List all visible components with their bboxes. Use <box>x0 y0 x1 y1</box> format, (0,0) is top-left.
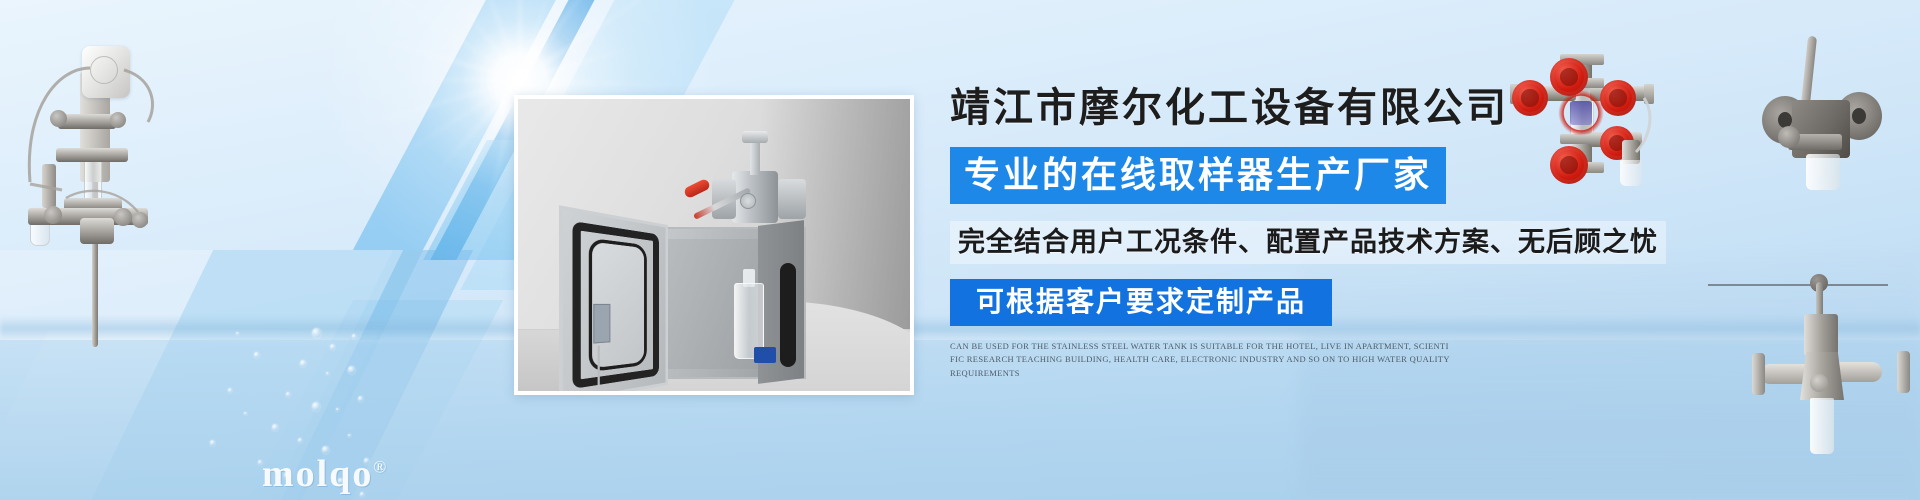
text-content-block: 靖江市摩尔化工设备有限公司 专业的在线取样器生产厂家 完全结合用户工况条件、配置… <box>950 84 1760 381</box>
water-droplet <box>244 412 247 415</box>
center-product-photo <box>514 95 914 395</box>
water-droplet <box>298 438 302 443</box>
water-droplet <box>336 408 339 411</box>
bottle-cap <box>754 347 776 363</box>
water-droplet <box>358 396 363 402</box>
right-flanged-valve-image <box>1748 30 1898 210</box>
cabinet-door <box>559 205 668 391</box>
water-droplet <box>210 440 215 446</box>
valve-stem <box>750 139 760 175</box>
valve-flange <box>778 179 806 219</box>
valve-bonnet <box>1804 314 1838 356</box>
water-droplet <box>312 402 320 411</box>
english-description: CAN BE USED FOR THE STAINLESS STEEL WATE… <box>950 340 1450 381</box>
valve-knob <box>742 131 768 143</box>
water-droplet <box>228 388 232 393</box>
water-droplet <box>254 352 259 358</box>
water-droplet <box>352 334 356 339</box>
water-droplet <box>312 328 321 338</box>
sample-tube <box>1810 398 1834 454</box>
sample-cup <box>1806 154 1840 190</box>
photo-content <box>518 99 910 391</box>
brand-badge <box>1810 374 1828 392</box>
water-droplet <box>272 424 278 431</box>
sampler-cabinet <box>646 227 806 379</box>
water-droplet <box>326 372 329 375</box>
water-droplet <box>330 344 335 350</box>
pipe-flange <box>1897 351 1910 393</box>
water-droplet <box>236 332 239 335</box>
brand-badge <box>1778 126 1800 148</box>
tubing-lines <box>6 22 196 322</box>
water-droplet <box>348 434 351 437</box>
water-droplet <box>286 392 290 397</box>
door-key <box>598 345 600 385</box>
door-latch <box>593 304 610 344</box>
cabinet-handle <box>780 263 796 367</box>
lever-grip <box>683 178 711 199</box>
water-droplet <box>348 366 355 374</box>
subline-text: 完全结合用户工况条件、配置产品技术方案、无后顾之忧 <box>950 221 1666 263</box>
right-bottom-valve-image <box>1766 288 1896 478</box>
watermark-logo: molqo® <box>262 452 388 496</box>
registered-mark: ® <box>373 457 388 476</box>
tagline-highlight: 专业的在线取样器生产厂家 <box>950 147 1446 204</box>
watermark-text: molqo <box>262 453 373 495</box>
custom-order-highlight: 可根据客户要求定制产品 <box>950 279 1332 326</box>
promo-banner: 靖江市摩尔化工设备有限公司 专业的在线取样器生产厂家 完全结合用户工况条件、配置… <box>0 0 1920 500</box>
brand-badge <box>740 193 756 209</box>
company-name: 靖江市摩尔化工设备有限公司 <box>950 84 1760 131</box>
water-droplet <box>300 360 306 367</box>
sampling-valve <box>710 135 802 231</box>
left-equipment-image <box>6 22 196 322</box>
